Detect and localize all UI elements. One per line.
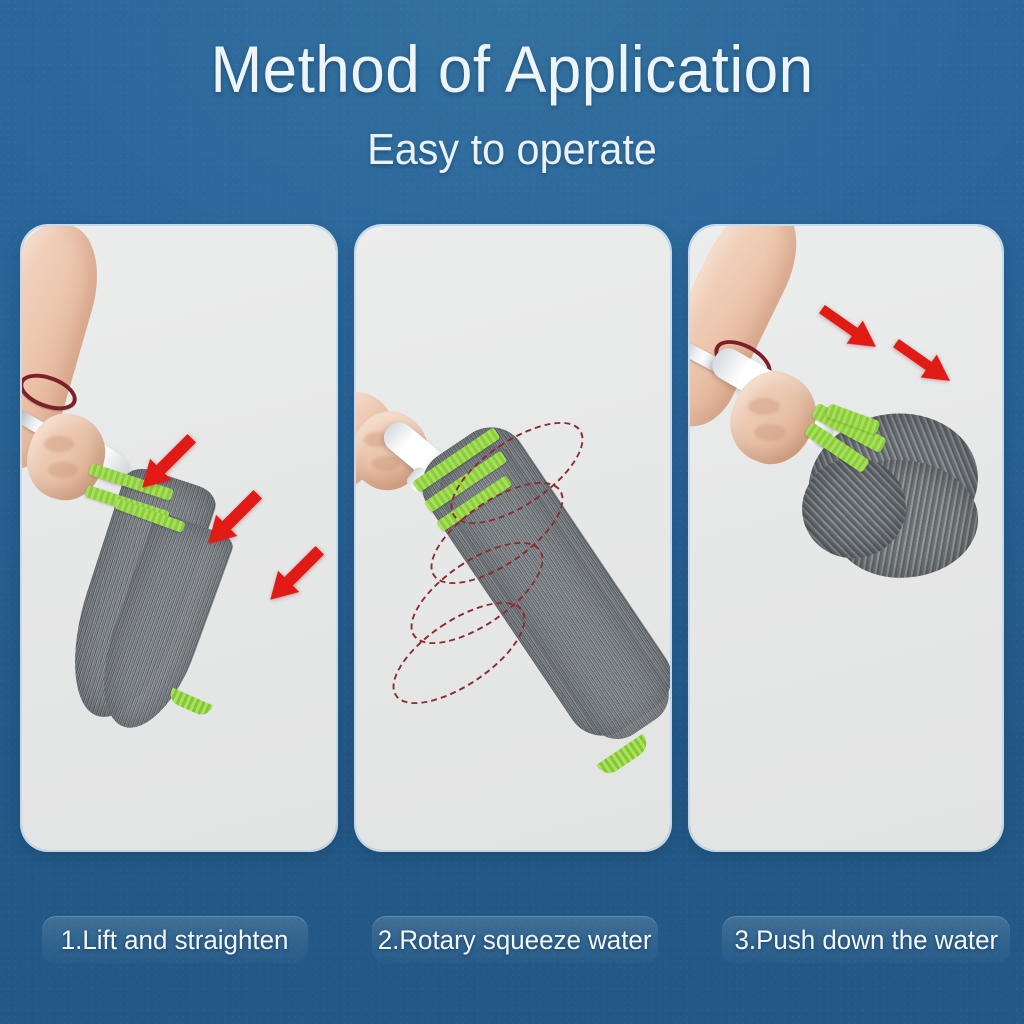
step-panel-2 bbox=[356, 226, 670, 850]
step-caption-2: 2.Rotary squeeze water bbox=[372, 916, 658, 964]
page-title: Method of Application bbox=[31, 36, 994, 102]
push-down-the-water-photo bbox=[690, 226, 1002, 850]
step-panel-1 bbox=[22, 226, 336, 850]
direction-arrow-down-right bbox=[814, 298, 884, 359]
knuckle-shade bbox=[372, 456, 400, 471]
step-panels bbox=[22, 226, 1002, 850]
step-caption-2-label: 2.Rotary squeeze water bbox=[378, 927, 652, 954]
step-caption-3-label: 3.Push down the water bbox=[734, 927, 998, 954]
product-infographic: Method of Application Easy to operate bbox=[0, 0, 1024, 1024]
mop-tip-band bbox=[596, 734, 651, 779]
mop-tip-band bbox=[167, 688, 213, 719]
knuckle-shade bbox=[48, 462, 78, 478]
knuckle-shade bbox=[748, 398, 780, 415]
direction-arrow-up-left bbox=[260, 540, 331, 611]
lift-and-straighten-photo bbox=[22, 226, 336, 850]
step-panel-3 bbox=[690, 226, 1002, 850]
step-caption-1-label: 1.Lift and straighten bbox=[61, 927, 289, 954]
step-caption-1: 1.Lift and straighten bbox=[42, 916, 308, 964]
step-caption-3: 3.Push down the water bbox=[722, 916, 1010, 964]
page-subtitle: Easy to operate bbox=[31, 128, 994, 172]
step-captions: 1.Lift and straighten 2.Rotary squeeze w… bbox=[0, 916, 1024, 974]
knuckle-shade bbox=[754, 424, 786, 441]
rotary-squeeze-water-photo bbox=[356, 226, 670, 850]
knuckle-shade bbox=[44, 436, 74, 452]
direction-arrow-down-right bbox=[888, 332, 958, 393]
